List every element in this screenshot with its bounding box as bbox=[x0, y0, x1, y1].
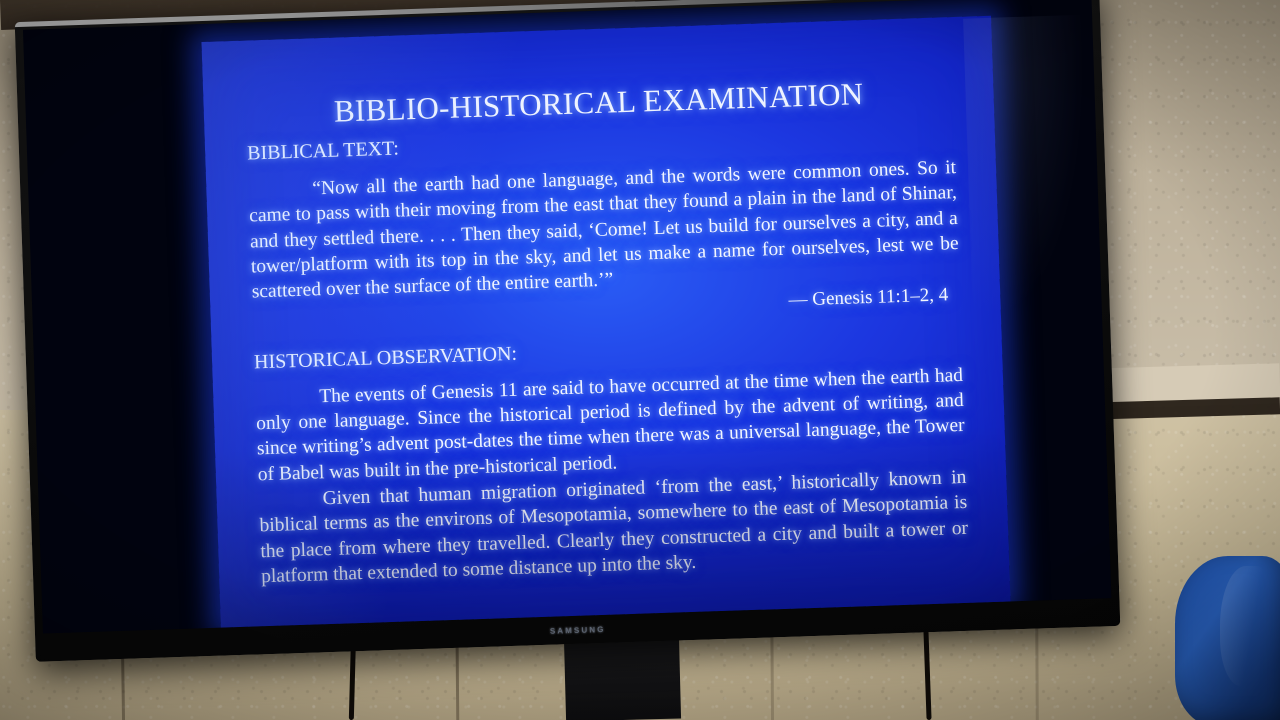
presentation-slide: BIBLIO-HISTORICAL EXAMINATION BIBLICAL T… bbox=[201, 16, 1010, 628]
foreground-person-garment bbox=[1175, 556, 1280, 720]
tv-stand-neck bbox=[564, 635, 681, 720]
television: BIBLIO-HISTORICAL EXAMINATION BIBLICAL T… bbox=[15, 0, 1121, 662]
samsung-logo: SAMSUNG bbox=[550, 625, 606, 636]
garment-fold-highlight bbox=[1220, 566, 1272, 686]
slide-content: BIBLIO-HISTORICAL EXAMINATION BIBLICAL T… bbox=[201, 16, 1010, 628]
tv-screen: BIBLIO-HISTORICAL EXAMINATION BIBLICAL T… bbox=[23, 0, 1111, 634]
biblical-quote-text: “Now all the earth had one language, and… bbox=[248, 155, 960, 305]
photograph-scene: BIBLIO-HISTORICAL EXAMINATION BIBLICAL T… bbox=[0, 0, 1280, 720]
